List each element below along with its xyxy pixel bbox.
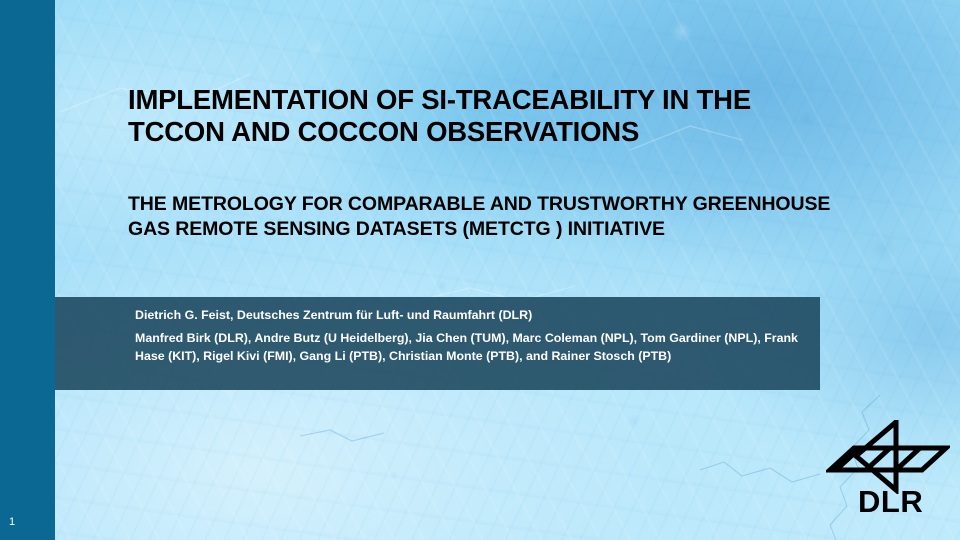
dlr-wordmark: DLR	[858, 486, 923, 517]
background-base	[0, 0, 960, 540]
author-panel: Dietrich G. Feist, Deutsches Zentrum für…	[55, 297, 820, 390]
dlr-eagle-icon	[826, 420, 950, 494]
background-texture	[0, 0, 960, 540]
presenter-name: Dietrich G. Feist, Deutsches Zentrum für…	[135, 308, 795, 324]
presentation-slide: 1 IMPLEMENTATION OF SI-TRACEABILITY IN T…	[0, 0, 960, 540]
background-terrain	[0, 0, 960, 540]
page-number: 1	[9, 517, 15, 528]
slide-subtitle: THE METROLOGY FOR COMPARABLE AND TRUSTWO…	[128, 192, 858, 242]
co-author-list: Manfred Birk (DLR), Andre Butz (U Heidel…	[135, 330, 800, 365]
slide-title: IMPLEMENTATION OF SI-TRACEABILITY IN THE…	[128, 84, 828, 148]
background-mottle	[0, 0, 960, 540]
left-accent-bar: 1	[0, 0, 55, 540]
dlr-logo: DLR	[826, 420, 950, 524]
background-coastline	[0, 0, 960, 540]
background-highlight	[0, 0, 960, 540]
